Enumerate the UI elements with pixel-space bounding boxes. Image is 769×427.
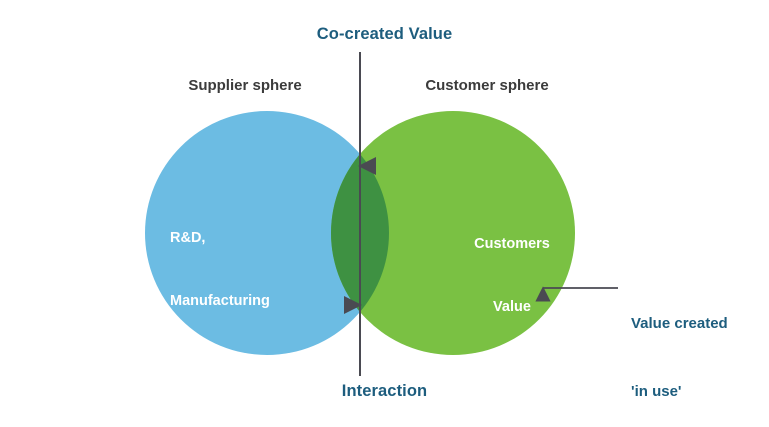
interaction-label: Interaction (0, 381, 769, 402)
supplier-circle-text-line-2: Manufacturing (170, 291, 350, 312)
value-created-in-use-line-1: Value created (631, 313, 769, 336)
supplier-circle-text-line-1: R&D, (170, 228, 350, 249)
customer-circle-text-line-1: Customers (432, 234, 592, 255)
co-created-value-label: Co-created Value (0, 24, 769, 45)
customer-sphere-label: Customer sphere (372, 76, 602, 95)
supplier-sphere-label: Supplier sphere (130, 76, 360, 95)
value-created-in-use-callout: Value created 'in use' (631, 268, 769, 427)
supplier-circle-text-line-3: Delivery (170, 354, 350, 375)
venn-diagram-canvas: Co-created Value Supplier sphere Custome… (0, 0, 769, 427)
customer-circle-text-line-2: Value (432, 297, 592, 318)
customer-circle-text-line-3: creation (432, 360, 592, 381)
